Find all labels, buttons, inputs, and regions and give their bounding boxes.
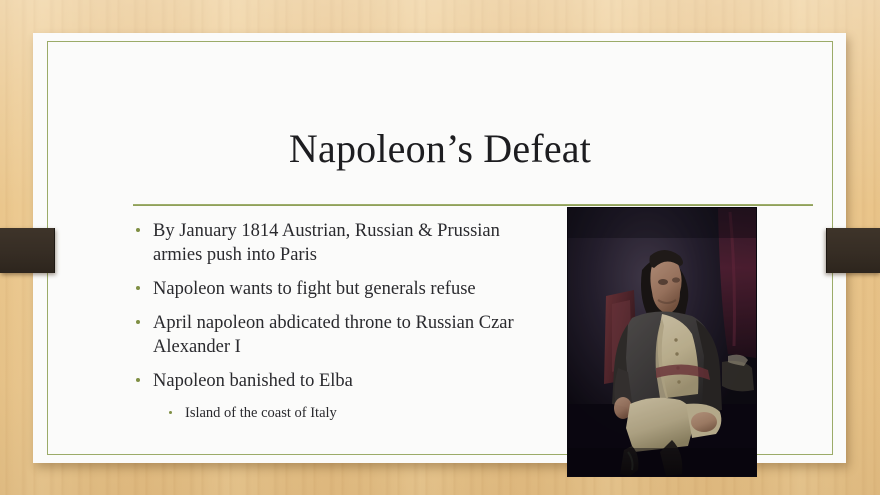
- title-divider-rule: [133, 204, 813, 206]
- bullet-list: By January 1814 Austrian, Russian & Prus…: [131, 219, 551, 423]
- slide-viewer: Napoleon’s Defeat By January 1814 Austri…: [0, 0, 880, 495]
- presentation-slide[interactable]: Napoleon’s Defeat By January 1814 Austri…: [33, 33, 846, 463]
- list-item: By January 1814 Austrian, Russian & Prus…: [131, 219, 551, 267]
- list-item-sub: Island of the coast of Italy: [131, 403, 551, 423]
- list-item: April napoleon abdicated throne to Russi…: [131, 311, 551, 359]
- napoleon-seated-painting: [567, 207, 757, 477]
- page-tab-left[interactable]: [0, 228, 55, 273]
- list-item: Napoleon wants to fight but generals ref…: [131, 277, 551, 301]
- list-item: Napoleon banished to Elba: [131, 369, 551, 393]
- page-tab-right[interactable]: [826, 228, 880, 273]
- page-title: Napoleon’s Defeat: [100, 125, 780, 173]
